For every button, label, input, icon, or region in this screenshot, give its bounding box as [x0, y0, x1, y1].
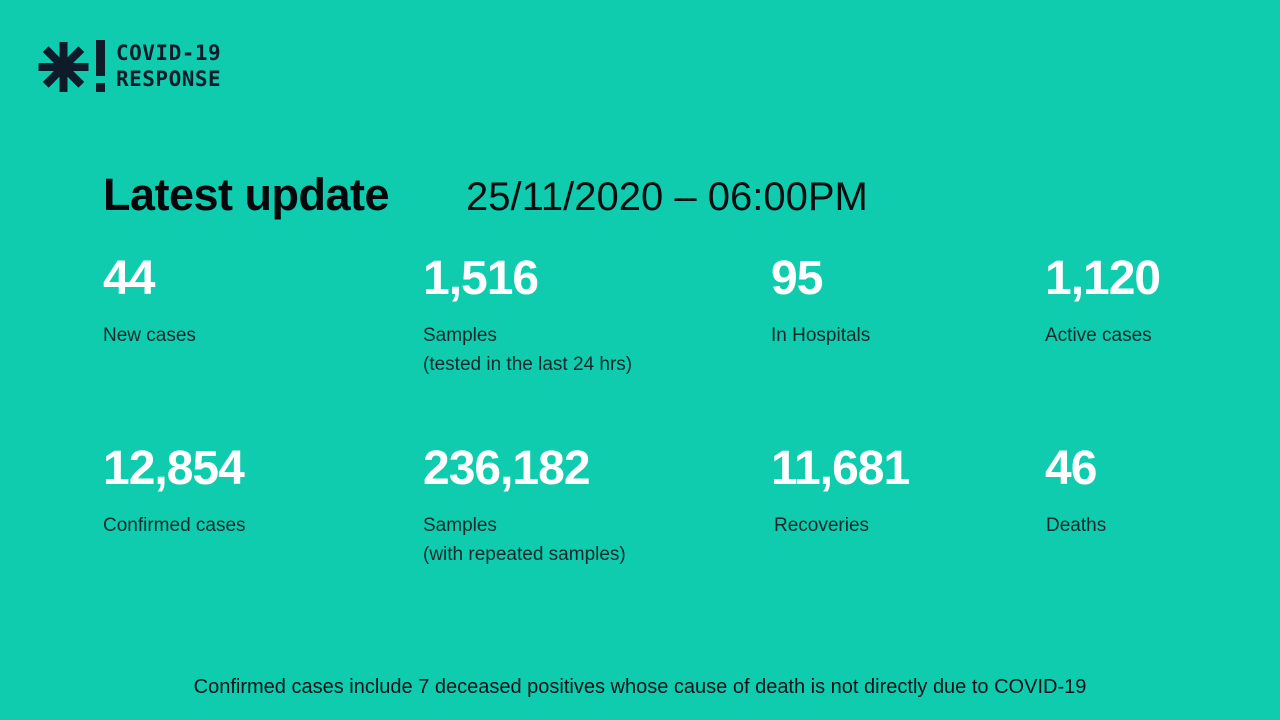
stat-value: 95: [771, 255, 870, 303]
stat-value: 11,681: [771, 445, 909, 493]
stat-value: 1,516: [423, 255, 632, 303]
stat-value: 46: [1045, 445, 1106, 493]
stat-label-main: Deaths: [1046, 515, 1106, 536]
covid-dashboard-slide: COVID-19 RESPONSE Latest update 25/11/20…: [0, 0, 1280, 720]
stat-label-main: Active cases: [1045, 325, 1152, 346]
logo-line-1: COVID-19: [116, 41, 221, 67]
stat-label-sub: (with repeated samples): [423, 540, 626, 569]
stat-recoveries: 11,681 Recoveries: [771, 445, 909, 540]
stats-row-2: 12,854 Confirmed cases 236,182 Samples (…: [0, 445, 1280, 615]
stat-label-main: Samples: [423, 515, 497, 536]
stat-confirmed-cases: 12,854 Confirmed cases: [103, 445, 246, 540]
covid-response-logo: COVID-19 RESPONSE: [38, 38, 221, 96]
page-title: Latest update: [103, 172, 389, 217]
stat-samples-repeated: 236,182 Samples (with repeated samples): [423, 445, 626, 570]
stat-label: Samples (with repeated samples): [423, 511, 626, 570]
stats-row-1: 44 New cases 1,516 Samples (tested in th…: [0, 255, 1280, 425]
stat-value: 1,120: [1045, 255, 1160, 303]
stat-label: Deaths: [1045, 511, 1106, 540]
stat-label: Confirmed cases: [103, 511, 246, 540]
headline: Latest update 25/11/2020 – 06:00PM: [103, 172, 868, 217]
stat-label: Recoveries: [771, 511, 909, 540]
stat-label: In Hospitals: [771, 321, 870, 350]
stat-label-main: Samples: [423, 325, 497, 346]
update-timestamp: 25/11/2020 – 06:00PM: [466, 177, 868, 217]
stat-label: Samples (tested in the last 24 hrs): [423, 321, 632, 380]
covid-asterisk-exclamation-icon: [38, 38, 106, 96]
stat-deaths: 46 Deaths: [1045, 445, 1106, 540]
stat-new-cases: 44 New cases: [103, 255, 196, 350]
stat-in-hospitals: 95 In Hospitals: [771, 255, 870, 350]
logo-wordmark: COVID-19 RESPONSE: [116, 41, 221, 92]
stat-label: Active cases: [1045, 321, 1160, 350]
stat-active-cases: 1,120 Active cases: [1045, 255, 1160, 350]
stat-label-main: Confirmed cases: [103, 515, 246, 536]
stat-samples-24h: 1,516 Samples (tested in the last 24 hrs…: [423, 255, 632, 380]
stat-value: 236,182: [423, 445, 626, 493]
stat-value: 44: [103, 255, 196, 303]
logo-line-2: RESPONSE: [116, 67, 221, 93]
stat-label: New cases: [103, 321, 196, 350]
footer-note: Confirmed cases include 7 deceased posit…: [0, 676, 1280, 699]
stat-label-main: New cases: [103, 325, 196, 346]
stat-value: 12,854: [103, 445, 246, 493]
stat-label-sub: (tested in the last 24 hrs): [423, 350, 632, 379]
stat-label-main: Recoveries: [774, 515, 869, 536]
stat-label-main: In Hospitals: [771, 325, 870, 346]
